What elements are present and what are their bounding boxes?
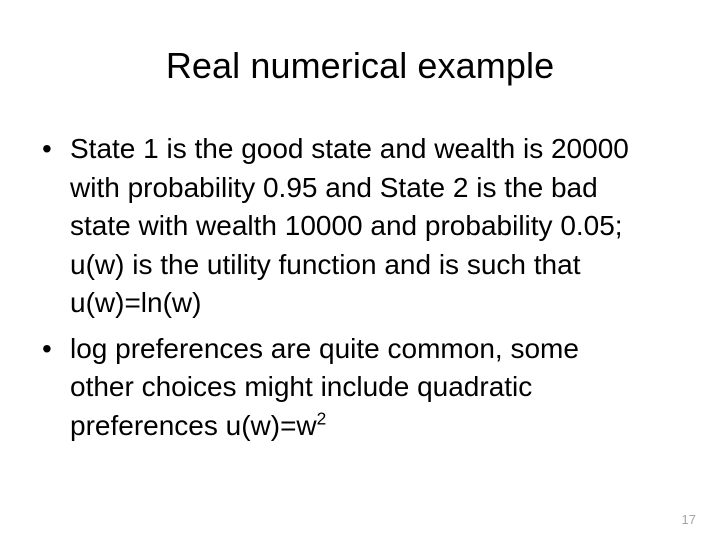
page-number: 17 — [682, 512, 696, 528]
bullet-line: State 1 is the good state and wealth is … — [70, 130, 678, 169]
bullet-line: other choices might include quadratic — [70, 368, 678, 407]
bullet-item-1: • State 1 is the good state and wealth i… — [36, 130, 684, 323]
bullet-item-2-text: log preferences are quite common, some o… — [70, 330, 684, 446]
bullet-item-1-text: State 1 is the good state and wealth is … — [70, 130, 684, 323]
superscript-exponent: 2 — [317, 408, 327, 428]
bullet-marker-icon: • — [36, 330, 70, 369]
bullet-line: log preferences are quite common, some — [70, 330, 678, 369]
slide: Real numerical example • State 1 is the … — [0, 0, 720, 540]
bullet-item-2: • log preferences are quite common, some… — [36, 330, 684, 446]
bullet-line-with-superscript: preferences u(w)=w2 — [70, 407, 678, 446]
bullet-line: u(w)=ln(w) — [70, 284, 678, 323]
bullet-line: with probability 0.95 and State 2 is the… — [70, 169, 678, 208]
bullet-line: state with wealth 10000 and probability … — [70, 207, 678, 246]
slide-body: • State 1 is the good state and wealth i… — [36, 130, 684, 445]
bullet-marker-icon: • — [36, 130, 70, 169]
bullet-line-base: preferences u(w)=w — [70, 410, 317, 441]
bullet-line: u(w) is the utility function and is such… — [70, 246, 678, 285]
slide-title: Real numerical example — [0, 44, 720, 88]
